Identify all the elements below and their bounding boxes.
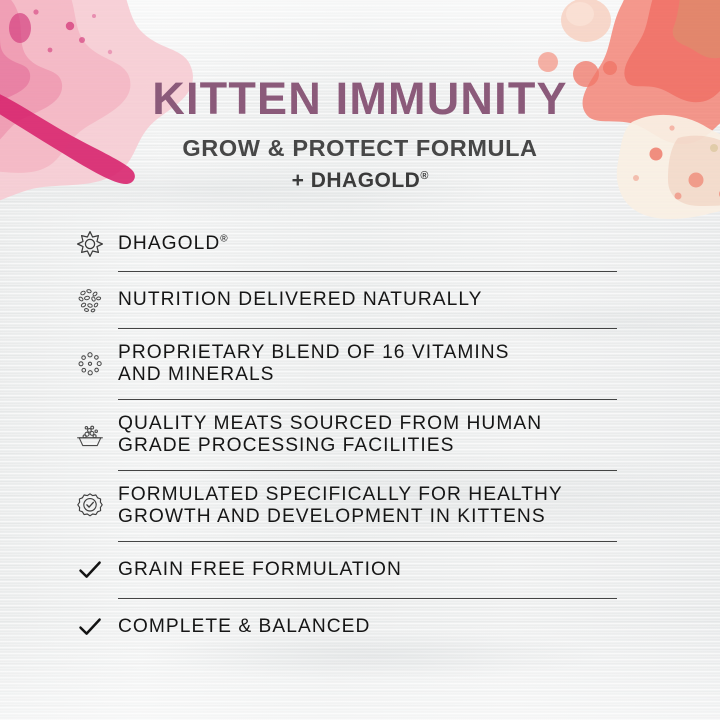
registered-mark-icon: ® xyxy=(420,170,428,182)
list-item: DHAGOLD® xyxy=(72,222,617,266)
starburst-icon xyxy=(72,222,108,266)
list-item: NUTRITION DELIVERED NATURALLY xyxy=(72,277,617,323)
header-block: KITTEN IMMUNITY GROW & PROTECT FORMULA +… xyxy=(0,0,720,192)
list-item: GRAIN FREE FORMULATION xyxy=(72,547,617,593)
list-item: PROPRIETARY BLEND OF 16 VITAMINS AND MIN… xyxy=(72,334,617,394)
list-item: FORMULATED SPECIFICALLY FOR HEALTHY GROW… xyxy=(72,476,617,536)
divider xyxy=(118,328,617,329)
page-title: KITTEN IMMUNITY xyxy=(0,0,720,122)
list-item-label: PROPRIETARY BLEND OF 16 VITAMINS AND MIN… xyxy=(118,342,617,387)
checkmark-icon xyxy=(72,548,108,592)
list-item-label: QUALITY MEATS SOURCED FROM HUMAN GRADE P… xyxy=(118,413,617,458)
seeds-icon xyxy=(72,278,108,322)
list-item: QUALITY MEATS SOURCED FROM HUMAN GRADE P… xyxy=(72,405,617,465)
list-item-label: DHAGOLD® xyxy=(118,233,617,255)
list-item-label: GRAIN FREE FORMULATION xyxy=(118,559,617,581)
tagline: + DHAGOLD® xyxy=(0,161,720,192)
subtitle: GROW & PROTECT FORMULA xyxy=(0,122,720,161)
checkmark-icon xyxy=(72,605,108,649)
list-item: COMPLETE & BALANCED xyxy=(72,604,617,650)
seal-check-icon xyxy=(72,484,108,528)
divider xyxy=(118,541,617,542)
list-item-label: COMPLETE & BALANCED xyxy=(118,616,617,638)
circles-ring-icon xyxy=(72,342,108,386)
food-bowl-icon xyxy=(72,413,108,457)
divider xyxy=(118,271,617,272)
product-infographic: KITTEN IMMUNITY GROW & PROTECT FORMULA +… xyxy=(0,0,720,720)
divider xyxy=(118,399,617,400)
list-item-label: FORMULATED SPECIFICALLY FOR HEALTHY GROW… xyxy=(118,484,617,529)
list-item-label: NUTRITION DELIVERED NATURALLY xyxy=(118,289,617,311)
divider xyxy=(118,470,617,471)
registered-mark-icon: ® xyxy=(220,233,227,244)
tagline-text: + DHAGOLD xyxy=(292,169,421,192)
divider xyxy=(118,598,617,599)
feature-list: DHAGOLD® xyxy=(72,222,617,650)
